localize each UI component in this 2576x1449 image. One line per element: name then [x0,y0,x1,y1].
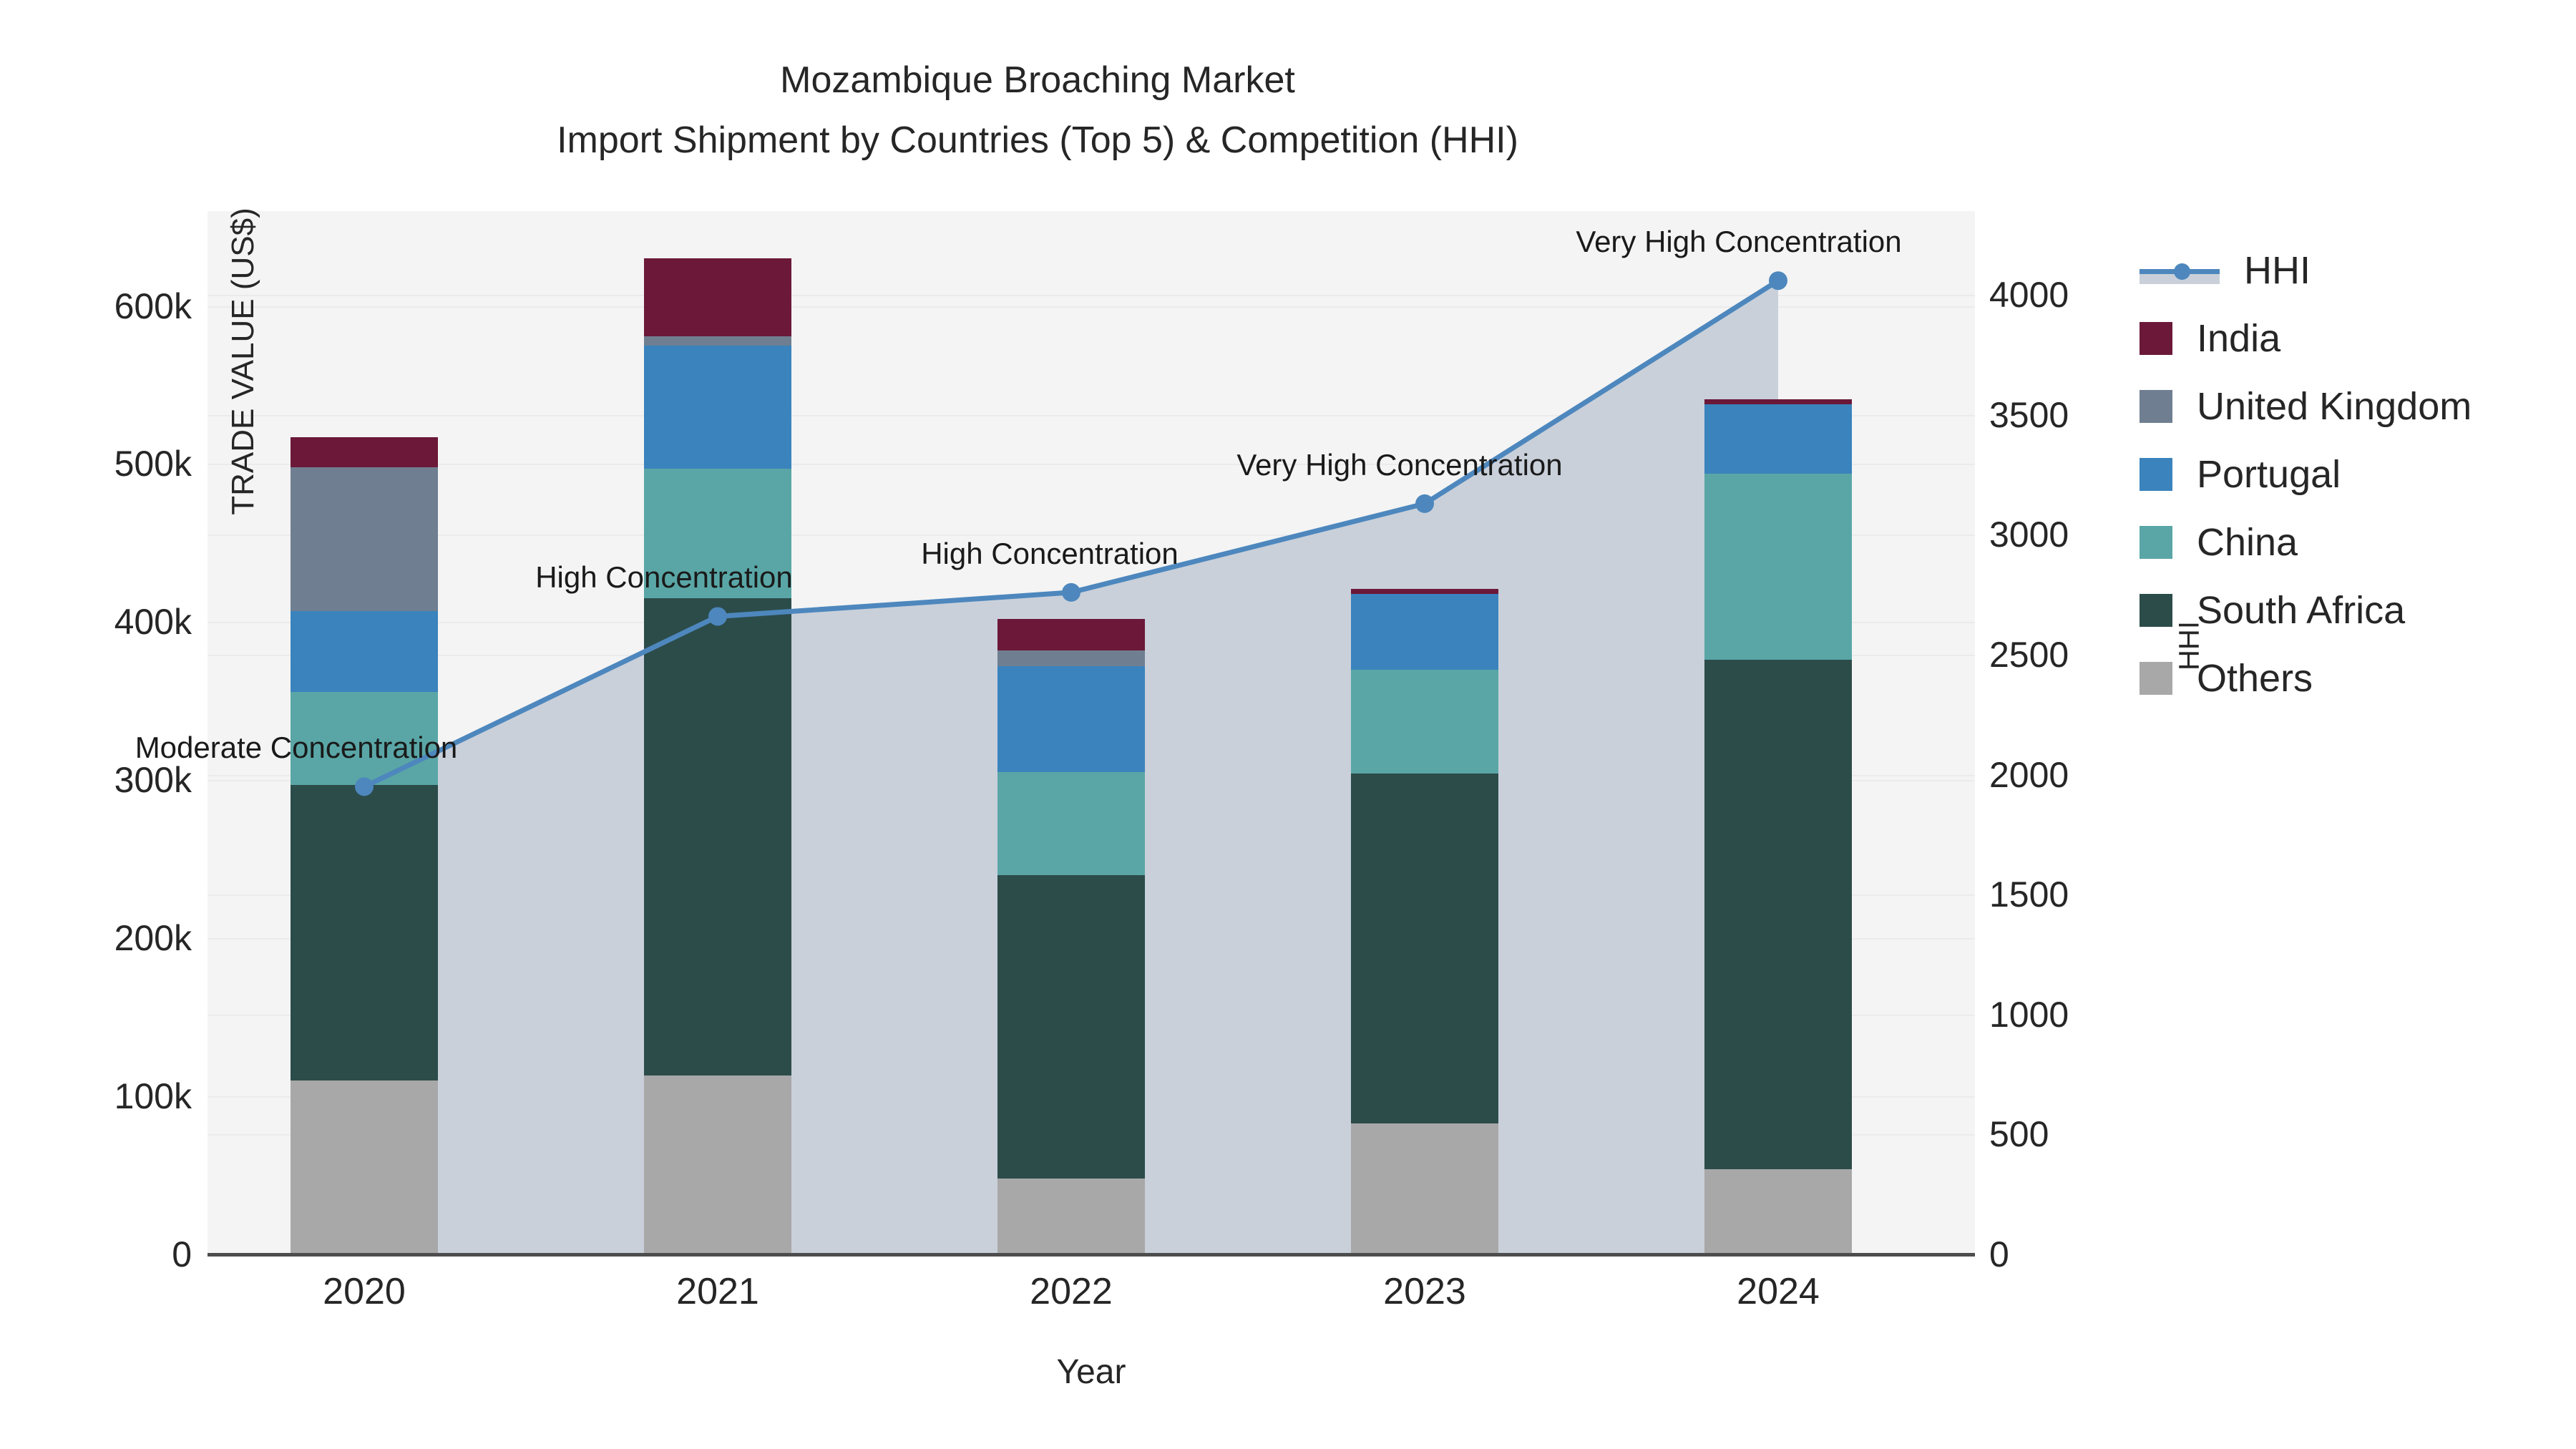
legend-label: HHI [2244,248,2311,293]
x-tick-2024: 2024 [1737,1270,1820,1313]
legend-label: United Kingdom [2197,384,2472,429]
x-tick-2023: 2023 [1383,1270,1466,1313]
legend-label: China [2197,520,2298,565]
legend-item-south-africa[interactable]: South Africa [2140,576,2569,644]
legend-item-india[interactable]: India [2140,304,2569,372]
legend-item-portugal[interactable]: Portugal [2140,440,2569,508]
x-tick-2022: 2022 [1030,1270,1113,1313]
legend-swatch-icon [2140,390,2172,423]
legend-swatch-icon [2140,594,2172,627]
legend-line-dot-icon [2174,263,2190,280]
legend-label: Others [2197,656,2313,701]
legend-label: South Africa [2197,588,2405,633]
legend-line-marker-icon [2140,254,2220,287]
x-axis-label: Year [208,1352,1975,1392]
legend: HHIIndiaUnited KingdomPortugalChinaSouth… [2140,236,2569,712]
legend-label: Portugal [2197,452,2341,497]
legend-item-united-kingdom[interactable]: United Kingdom [2140,372,2569,440]
legend-swatch-icon [2140,458,2172,491]
chart-root: Mozambique Broaching Market Import Shipm… [0,0,2576,1449]
legend-label: India [2197,316,2280,361]
x-tick-2021: 2021 [676,1270,759,1313]
legend-swatch-icon [2140,662,2172,695]
legend-item-china[interactable]: China [2140,508,2569,576]
legend-swatch-icon [2140,322,2172,355]
legend-item-others[interactable]: Others [2140,644,2569,712]
legend-swatch-icon [2140,526,2172,559]
legend-item-hhi[interactable]: HHI [2140,236,2569,304]
y-axis-left-label: TRADE VALUE (US$) [225,111,261,612]
x-tick-2020: 2020 [323,1270,406,1313]
